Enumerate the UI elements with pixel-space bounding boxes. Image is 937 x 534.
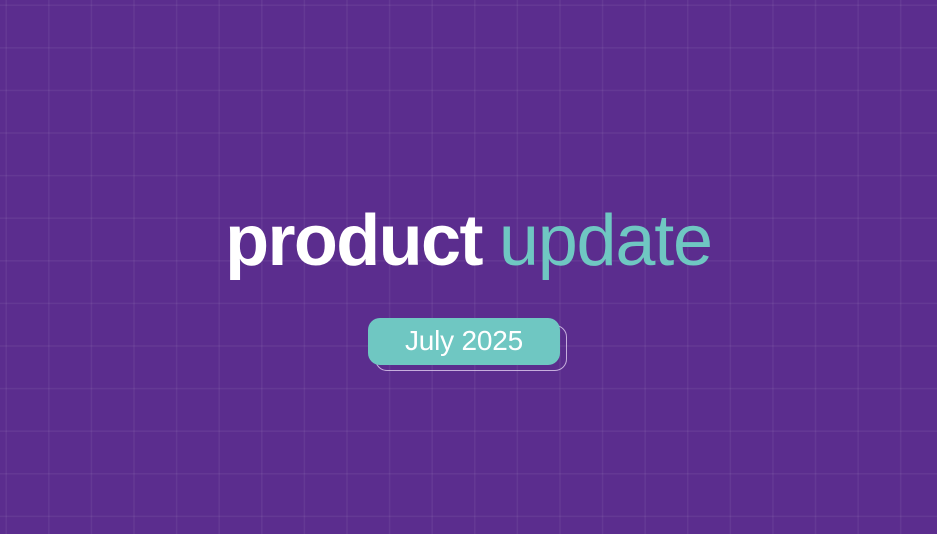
product-update-title-slide: productupdate July 2025 [0, 0, 937, 534]
date-badge-label: July 2025 [405, 327, 523, 355]
slide-content: productupdate July 2025 [0, 0, 937, 534]
date-badge-pill: July 2025 [368, 318, 560, 365]
date-badge: July 2025 [368, 318, 568, 366]
title-word-update: update [499, 201, 712, 281]
title-word-product: product [225, 201, 482, 281]
page-title: productupdate [225, 205, 712, 277]
